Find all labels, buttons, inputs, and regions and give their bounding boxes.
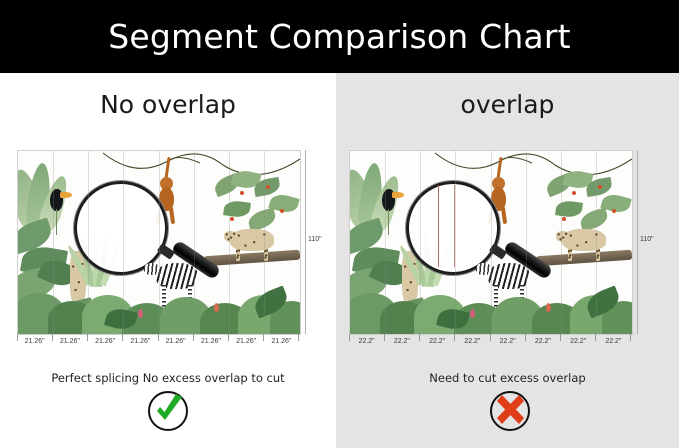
segment-label: 22.2": [490, 338, 525, 345]
leopard-leg: [568, 247, 572, 261]
height-label-overlap: 110": [640, 236, 654, 243]
segment-label: 22.2": [420, 338, 455, 345]
segment-guide: [455, 151, 456, 334]
segment-guide: [596, 151, 597, 334]
segment-label: 21.26": [123, 338, 158, 345]
mural-overlap-wrap: 22.2" 22.2" 22.2" 22.2" 22.2" 22.2" 22.2…: [349, 150, 631, 335]
segment-label: 21.26": [229, 338, 264, 345]
flower: [138, 309, 143, 318]
segment-label: 22.2": [525, 338, 560, 345]
caption-no-overlap: Perfect splicing No excess overlap to cu…: [0, 371, 336, 385]
segment-label: 22.2": [455, 338, 490, 345]
mural-no-overlap-wrap: 21.26" 21.26" 21.26" 21.26" 21.26" 21.26…: [17, 150, 299, 335]
segment-label: 21.26": [158, 338, 193, 345]
segment-guide: [159, 151, 160, 334]
segment-guide: [229, 151, 230, 334]
panel-no-overlap: No overlap: [0, 73, 336, 448]
berry: [612, 209, 616, 213]
comparison-chart-page: Segment Comparison Chart No overlap: [0, 0, 679, 448]
leopard-leg: [236, 247, 240, 261]
height-label-no-overlap: 110": [308, 236, 322, 243]
segment-guide: [491, 151, 492, 334]
segment-label: 21.26": [88, 338, 123, 345]
segment-guide: [194, 151, 195, 334]
segment-labels-overlap: 22.2" 22.2" 22.2" 22.2" 22.2" 22.2" 22.2…: [349, 338, 631, 345]
berry: [230, 217, 234, 221]
segment-labels-no-overlap: 21.26" 21.26" 21.26" 21.26" 21.26" 21.26…: [17, 338, 299, 345]
segment-label: 22.2": [349, 338, 384, 345]
check-mark-icon: [146, 389, 190, 433]
segment-guide: [526, 151, 527, 334]
berry: [572, 191, 576, 195]
panels-container: No overlap: [0, 73, 679, 448]
page-header: Segment Comparison Chart: [0, 0, 679, 73]
segment-label: 21.26": [17, 338, 52, 345]
overlap-seam-line: [438, 185, 439, 267]
page-title: Segment Comparison Chart: [108, 17, 571, 56]
panel-overlap-header: overlap: [336, 73, 679, 135]
berry: [598, 185, 602, 189]
caption-overlap: Need to cut excess overlap: [336, 371, 679, 385]
toucan-beak-icon: [392, 192, 404, 198]
mural-no-overlap: [17, 150, 301, 335]
segment-guide: [123, 151, 124, 334]
segment-guide: [53, 151, 54, 334]
segment-label: 22.2": [596, 338, 631, 345]
panel-no-overlap-header: No overlap: [0, 73, 336, 135]
height-rule: [305, 150, 306, 334]
segment-guide: [88, 151, 89, 334]
flower: [470, 309, 475, 318]
segment-guide: [420, 151, 421, 334]
segment-guide: [264, 151, 265, 334]
segment-guide: [385, 151, 386, 334]
leopard-head-icon: [556, 231, 569, 242]
flower: [214, 303, 219, 312]
berry: [562, 217, 566, 221]
flower: [546, 303, 551, 312]
segment-label: 21.26": [193, 338, 228, 345]
cross-mark-icon: [488, 389, 532, 433]
branch: [388, 209, 389, 235]
panel-overlap: overlap: [336, 73, 679, 448]
berry: [266, 185, 270, 189]
height-rule: [637, 150, 638, 334]
berry: [280, 209, 284, 213]
berry: [240, 191, 244, 195]
panel-overlap-title: overlap: [461, 90, 555, 119]
segment-label: 21.26": [264, 338, 299, 345]
segment-guide: [561, 151, 562, 334]
segment-label: 22.2": [384, 338, 419, 345]
panel-no-overlap-title: No overlap: [100, 90, 236, 119]
mural-overlap: [349, 150, 633, 335]
branch: [56, 209, 57, 235]
leopard-head-icon: [224, 231, 237, 242]
segment-label: 21.26": [52, 338, 87, 345]
segment-label: 22.2": [561, 338, 596, 345]
toucan-beak-icon: [60, 192, 72, 198]
